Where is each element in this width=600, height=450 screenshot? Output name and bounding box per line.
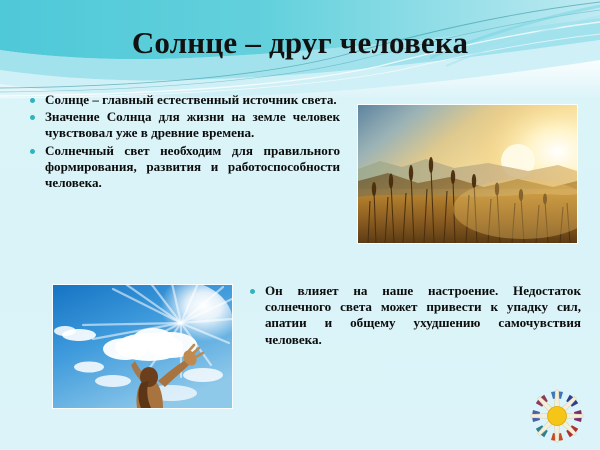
- list-item: Значение Солнца для жизни на земле челов…: [28, 109, 340, 141]
- list-item: Солнечный свет необходим для правильного…: [28, 143, 340, 192]
- presentation-slide: Солнце – друг человека Солнце – главный …: [0, 0, 600, 450]
- list-item: Солнце – главный естественный источник с…: [28, 92, 340, 108]
- colorful-sun-logo: [527, 387, 587, 445]
- left-bullet-list: Солнце – главный естественный источник с…: [28, 92, 340, 192]
- slide-title: Солнце – друг человека: [0, 27, 600, 60]
- right-bullet-list: Он влияет на наше настроение. Недостаток…: [248, 283, 581, 349]
- list-item: Он влияет на наше настроение. Недостаток…: [248, 283, 581, 348]
- sunset-over-hills-photo: [358, 105, 577, 243]
- person-reaching-to-sun-photo: [53, 285, 232, 408]
